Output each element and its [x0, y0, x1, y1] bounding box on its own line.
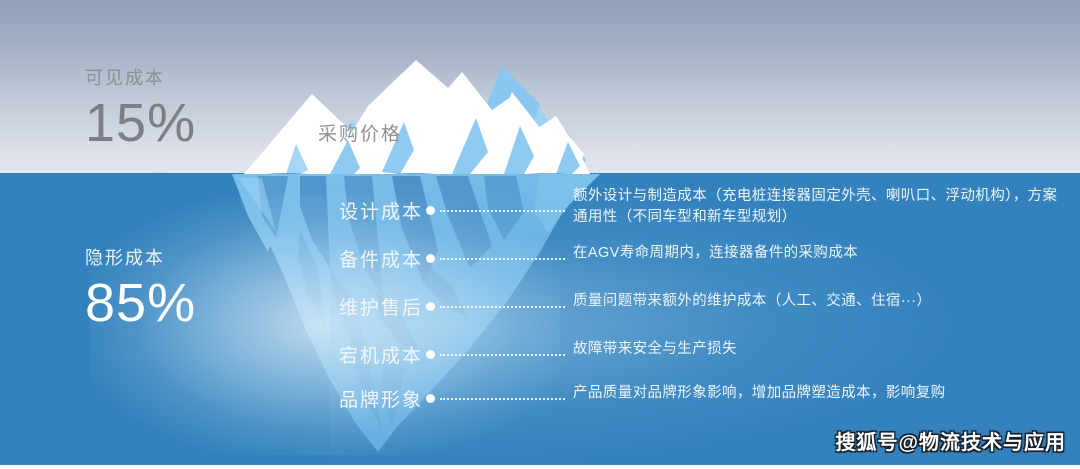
bullet-dot-icon — [426, 206, 435, 215]
watermark: 搜狐号@物流技术与应用 — [835, 426, 1066, 455]
cost-row-description: 额外设计与制造成本（充电桩连接器固定外壳、喇叭口、浮动机构），方案通用性（不同车… — [573, 186, 1065, 228]
dotted-leader-line — [440, 258, 565, 260]
bullet-dot-icon — [426, 254, 435, 263]
iceberg-cost-infographic: 可见成本 15% 隐形成本 85% 采购价格 设计成本额外设计与制造成本（充电桩… — [0, 0, 1080, 469]
dotted-leader-line — [440, 210, 565, 212]
bullet-dot-icon — [426, 350, 435, 359]
cost-row-label: 宕机成本 — [223, 341, 423, 368]
cost-row-description: 故障带来安全与生产损失 — [573, 339, 1065, 360]
cost-row-label: 设计成本 — [223, 197, 423, 224]
cost-row-label: 备件成本 — [223, 245, 423, 272]
dotted-leader-line — [440, 306, 565, 308]
cost-row-description: 产品质量对品牌形象影响，增加品牌塑造成本，影响复购 — [573, 383, 1065, 404]
bullet-dot-icon — [426, 302, 435, 311]
cost-row-description: 在AGV寿命周期内，连接器备件的采购成本 — [573, 243, 1065, 264]
cost-row-description: 质量问题带来额外的维护成本（人工、交通、住宿···） — [573, 291, 1065, 312]
dotted-leader-line — [440, 398, 565, 400]
bullet-dot-icon — [426, 394, 435, 403]
hidden-cost-list: 设计成本额外设计与制造成本（充电桩连接器固定外壳、喇叭口、浮动机构），方案通用性… — [0, 0, 1080, 469]
cost-row-label: 维护售后 — [223, 293, 423, 320]
cost-row-label: 品牌形象 — [223, 385, 423, 412]
dotted-leader-line — [440, 354, 565, 356]
